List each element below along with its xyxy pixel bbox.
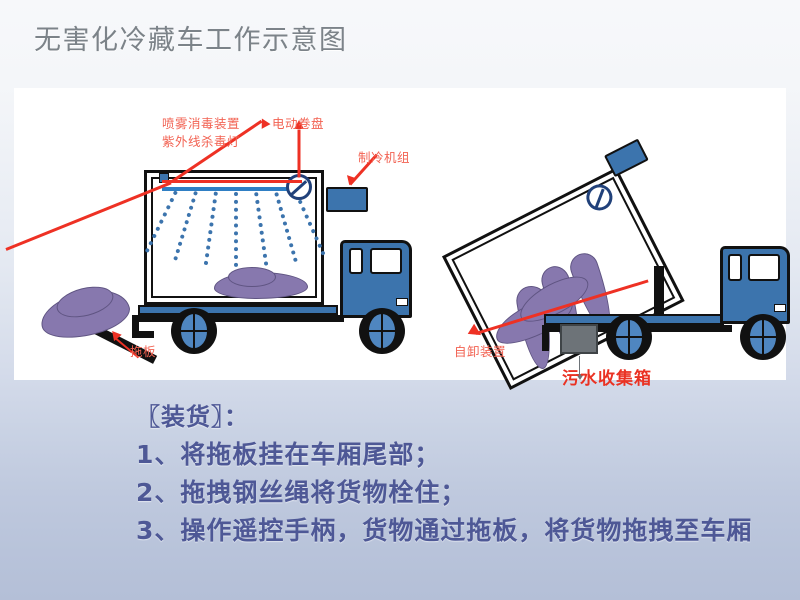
left-truck-side-window (349, 248, 363, 274)
slide-canvas: 无害化冷藏车工作示意图 (0, 0, 800, 600)
left-truck-windshield (370, 248, 402, 274)
body-step-3: 3、操作遥控手柄，货物通过拖板，将货物拖拽至车厢 (136, 512, 800, 550)
body-step-1: 1、将拖板挂在车厢尾部； (136, 436, 800, 474)
spray-jet (234, 192, 242, 267)
right-truck-front-wheel (740, 314, 786, 360)
label-refrigeration-unit: 制冷机组 (358, 150, 410, 165)
wheel-hub (616, 320, 642, 353)
label-uv-lamp: 紫外线杀毒灯 (162, 134, 240, 149)
arrow-head-spray-uv (257, 116, 270, 129)
label-sewage-tank: 污水收集箱 (562, 372, 652, 387)
tipping-hoist-cylinder (654, 266, 664, 318)
left-truck-chassis-rail (138, 305, 338, 315)
cargo-blob (228, 267, 276, 287)
label-spray-disinfection: 喷雾消毒装置 (162, 116, 240, 131)
wheel-hub (181, 314, 207, 347)
leader-top-rail (162, 180, 302, 183)
body-step-2: 2、拖拽钢丝绳将货物栓住； (136, 474, 800, 512)
left-truck-front-wheel (359, 308, 405, 354)
label-drag-plate: 拖板 (130, 344, 156, 359)
electric-reel-icon (286, 174, 312, 200)
body-text-block: 〖装货〗： 1、将拖板挂在车厢尾部； 2、拖拽钢丝绳将货物栓住； 3、操作遥控手… (136, 398, 800, 550)
left-truck-rear-wheel (171, 308, 217, 354)
label-self-unloading: 自卸装置 (454, 344, 506, 359)
right-truck-rear-wheel (606, 314, 652, 360)
left-truck-outrigger-foot (132, 331, 154, 338)
leader-electric-reel (298, 130, 301, 178)
right-truck-headlight (774, 304, 786, 312)
wheel-hub (750, 320, 776, 353)
right-truck-windshield (748, 254, 780, 281)
refrigeration-unit (326, 187, 368, 212)
diagram-panel: 喷雾消毒装置 紫外线杀毒灯 电动卷盘 制冷机组 拖板 (14, 88, 786, 380)
slide-title: 无害化冷藏车工作示意图 (34, 24, 348, 58)
left-truck-headlight (396, 298, 408, 306)
label-electric-reel: 电动卷盘 (272, 116, 324, 131)
sewage-collection-box (560, 324, 598, 354)
left-truck-frame (132, 315, 344, 322)
arrow-head-refrigeration (343, 172, 356, 185)
wheel-hub (369, 314, 395, 347)
body-heading: 〖装货〗： (136, 398, 800, 436)
right-truck-side-window (728, 254, 742, 281)
right-truck-rear-bumper (542, 325, 549, 351)
